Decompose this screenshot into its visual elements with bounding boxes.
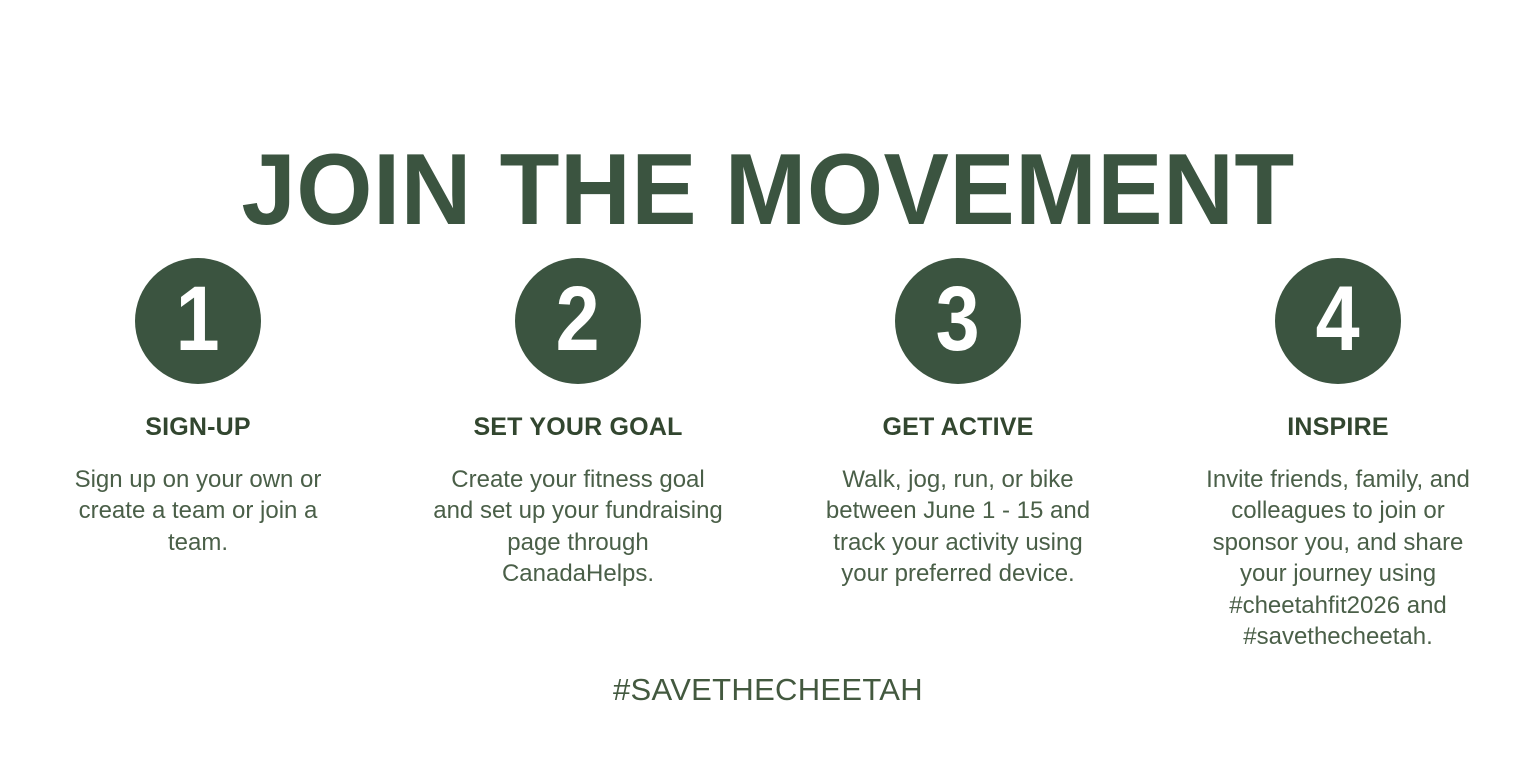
step-card-4: 4 INSPIRE Invite friends, family, and co… [1168, 258, 1508, 653]
step-number-badge-1: 1 [135, 258, 261, 384]
step-title-2: SET YOUR GOAL [473, 414, 682, 442]
step-body-1: Sign up on your own or create a team or … [61, 464, 336, 559]
step-body-4: Invite friends, family, and colleagues t… [1192, 464, 1484, 653]
page-title: JOIN THE MOVEMENT [23, 140, 1513, 241]
step-title-1: SIGN-UP [145, 414, 251, 442]
step-body-3: Walk, jog, run, or bike between June 1 -… [817, 464, 1099, 590]
step-body-2: Create your fitness goal and set up your… [433, 464, 723, 590]
step-title-4: INSPIRE [1287, 414, 1388, 442]
step-number-badge-2: 2 [515, 258, 641, 384]
step-number-2: 2 [556, 273, 600, 365]
step-number-4: 4 [1316, 273, 1360, 365]
step-card-3: 3 GET ACTIVE Walk, jog, run, or bike bet… [788, 258, 1128, 590]
step-card-1: 1 SIGN-UP Sign up on your own or create … [28, 258, 368, 558]
campaign-hashtag: #SAVETHECHEETAH [0, 671, 1536, 708]
step-number-3: 3 [936, 273, 980, 365]
step-title-3: GET ACTIVE [882, 414, 1033, 442]
step-number-badge-3: 3 [895, 258, 1021, 384]
step-number-1: 1 [176, 273, 220, 365]
step-card-2: 2 SET YOUR GOAL Create your fitness goal… [408, 258, 748, 590]
step-number-badge-4: 4 [1275, 258, 1401, 384]
poster-canvas: JOIN THE MOVEMENT 1 SIGN-UP Sign up on y… [0, 0, 1536, 768]
steps-row: 1 SIGN-UP Sign up on your own or create … [28, 258, 1508, 653]
